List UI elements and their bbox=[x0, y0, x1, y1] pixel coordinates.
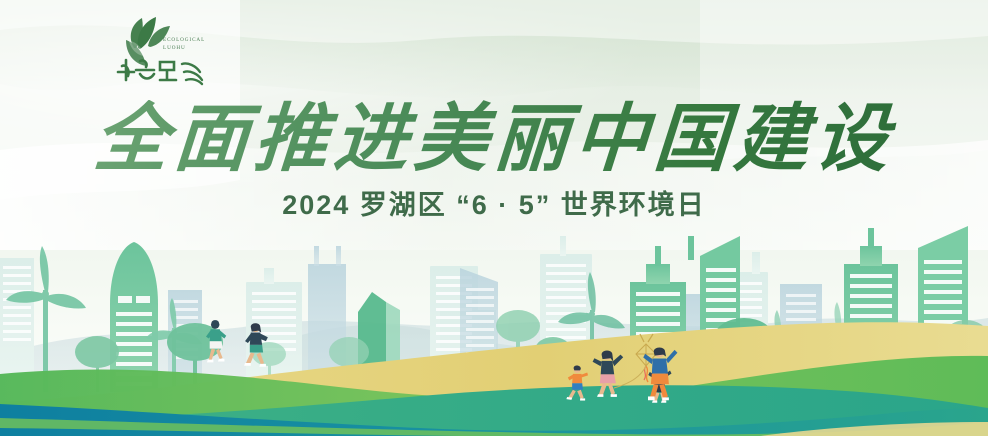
city-landscape-illustration bbox=[0, 206, 988, 436]
page-title: 全面推进美丽中国建设 bbox=[0, 100, 988, 180]
logo-chinese-text bbox=[118, 60, 202, 84]
logo-english-text: ECOLOGICAL LUOHU bbox=[163, 36, 205, 52]
ecological-luohu-logo[interactable]: ECOLOGICAL LUOHU bbox=[104, 8, 224, 86]
environment-day-poster: ECOLOGICAL LUOHU 全面推进美丽中国建设 2024 罗湖区 “6 … bbox=[0, 0, 988, 436]
